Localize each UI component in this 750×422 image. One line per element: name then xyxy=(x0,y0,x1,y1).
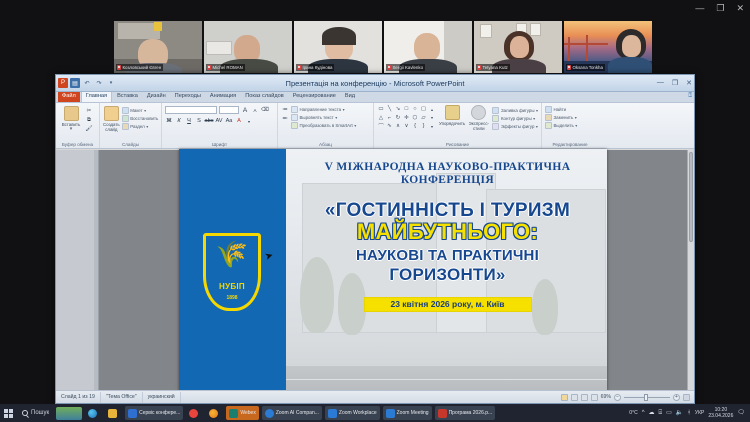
align-text-label: Выровнять текст xyxy=(300,115,334,120)
zoom-slider-knob[interactable] xyxy=(644,394,648,401)
shape-item[interactable]: ↻ xyxy=(394,114,402,122)
participant-name: Tetyana Kutz xyxy=(483,64,508,71)
volume-icon[interactable]: 🔈 xyxy=(676,410,683,416)
slide-text-block: V МІЖНАРОДНА НАУКОВО-ПРАКТИЧНА КОНФЕРЕНЦ… xyxy=(294,161,601,312)
layout-label: Макет xyxy=(130,108,142,113)
chevron-down-icon[interactable]: ▾ xyxy=(536,108,538,113)
powerpoint-status-bar: Слайд 1 из 19 "Тема Office" украинский 6… xyxy=(56,390,694,403)
section-icon xyxy=(122,123,129,130)
participant-name-badge: Козловський Євген xyxy=(116,64,163,71)
ribbon-group-paragraph: ≔ ≕ Направление текста ▾ Выровнять текст xyxy=(278,103,374,148)
copy-icon[interactable]: ⧉ xyxy=(85,116,93,124)
drawing-group-label: Рисование xyxy=(374,142,541,148)
sorter-view-icon[interactable] xyxy=(571,394,578,401)
reset-icon xyxy=(122,115,129,122)
layout-icon xyxy=(122,107,129,114)
shape-effects-label: Эффекты фигур xyxy=(501,124,534,129)
clock[interactable]: 10:20 23.04.2026 xyxy=(708,407,733,419)
taskbar-app-zoom-meeting[interactable]: Zoom Meeting xyxy=(383,406,432,420)
zoom-window-controls: — ❐ ✕ xyxy=(695,4,744,13)
arrange-icon xyxy=(445,105,460,120)
tab-view[interactable]: Вид xyxy=(341,91,359,102)
zoom-meeting-window: — ❐ ✕ Козловський Євген xyxy=(0,0,750,422)
ppt-restore-button[interactable]: ❐ xyxy=(672,79,678,87)
find-button[interactable]: Найти xyxy=(545,106,595,113)
slide-canvas[interactable]: 🌾 НУБІП 1898 V МІЖНАРОДНА НАУКОВО-ПРАКТИ… xyxy=(179,149,607,392)
numbering-icon[interactable]: ≕ xyxy=(281,115,289,123)
fit-to-window-icon[interactable] xyxy=(683,394,690,401)
format-painter-icon[interactable]: 🖌 xyxy=(85,125,93,133)
powerpoint-window-controls: — ❐ ✕ xyxy=(657,79,692,87)
firefox-icon xyxy=(209,409,218,418)
taskbar-app-program-pdf[interactable]: Програма 2026.p... xyxy=(435,406,496,420)
ppt-minimize-button[interactable]: — xyxy=(657,79,664,87)
system-tray: 0°C ^ ☁ ⌸ ▭ 🔈 ᚼ УКР 10:20 23.04.2026 🗨 xyxy=(629,407,748,419)
taskbar-app-webex[interactable]: Webex xyxy=(226,406,258,420)
character-spacing-button[interactable]: AV xyxy=(215,117,223,125)
layout-button[interactable]: Макет ▾ xyxy=(122,107,159,114)
find-icon xyxy=(545,106,552,113)
font-group-label: Шрифт xyxy=(162,142,277,148)
network-icon[interactable]: ▭ xyxy=(666,410,672,416)
shape-item[interactable]: ∧ xyxy=(394,122,402,130)
participant-name-badge: Ірина Кудінова xyxy=(296,64,334,71)
align-text-icon xyxy=(291,114,298,121)
slide-title-line-1: «ГОСТИННІСТЬ І ТУРИЗМ xyxy=(294,200,601,221)
logo-acronym: НУБІП xyxy=(203,282,261,291)
shape-item[interactable]: ▢ xyxy=(420,105,428,113)
quick-styles-icon xyxy=(471,105,486,120)
participant-filmstrip: Козловський Євген Michel ROMAN Ірина Куд… xyxy=(114,21,652,73)
underline-button[interactable]: Ч xyxy=(185,117,193,125)
shrink-font-icon[interactable]: A xyxy=(251,106,259,114)
theme-name[interactable]: "Тема Office" xyxy=(101,392,143,403)
change-case-button[interactable]: Aa xyxy=(225,117,233,125)
chevron-down-icon[interactable]: ▾ xyxy=(144,108,146,113)
file-explorer-icon xyxy=(108,409,117,418)
taskbar-app-zoom-ai[interactable]: Zoom AI Compan... xyxy=(262,406,322,420)
italic-button[interactable]: К xyxy=(175,117,183,125)
slide-date-badge: 23 квітня 2026 року, м. Київ xyxy=(364,297,532,312)
arrange-label: Упорядочить xyxy=(439,121,465,126)
windows-taskbar: Пошук Сервіс конфере... Webex Zoom AI Co… xyxy=(0,404,750,422)
chevron-down-icon[interactable]: ▾ xyxy=(146,124,148,129)
section-button[interactable]: Раздел ▾ xyxy=(122,123,159,130)
shapes-scroll-down-icon[interactable]: ▾ xyxy=(428,114,436,122)
grow-font-icon[interactable]: A xyxy=(241,106,249,114)
font-color-button[interactable]: A xyxy=(235,117,243,125)
shape-effects-button[interactable]: Эффекты фигур ▾ xyxy=(492,123,538,130)
tab-file[interactable]: Файл xyxy=(58,91,80,102)
shape-outline-icon xyxy=(492,115,499,122)
zoom-minimize-button[interactable]: — xyxy=(695,4,704,13)
replace-button[interactable]: Заменить ▾ xyxy=(545,114,595,121)
opera-icon xyxy=(189,409,198,418)
ribbon-group-clipboard: Вставить ▾ ✂ ⧉ 🖌 Буфер обмена xyxy=(56,103,100,148)
ribbon: Вставить ▾ ✂ ⧉ 🖌 Буфер обмена Созд xyxy=(56,103,694,149)
ribbon-tab-strip: Файл Главная Вставка Дизайн Переходы Ани… xyxy=(56,92,694,103)
zoom-workplace-icon xyxy=(328,409,337,418)
shape-item[interactable]: ∨ xyxy=(403,122,411,130)
shapes-scroll-up-icon[interactable]: ▴ xyxy=(428,105,436,113)
slides-group-label: Слайды xyxy=(100,142,161,148)
language-indicator[interactable]: УКР xyxy=(695,410,704,416)
windows-start-icon[interactable] xyxy=(2,407,15,420)
notifications-icon[interactable]: 🗨 xyxy=(737,410,745,416)
powerpoint-workspace: 🌾 НУБІП 1898 V МІЖНАРОДНА НАУКОВО-ПРАКТИ… xyxy=(56,150,694,390)
zoom-close-button[interactable]: ✕ xyxy=(736,4,744,13)
clock-date: 23.04.2026 xyxy=(708,413,733,419)
taskbar-app-label: Webex xyxy=(240,410,255,416)
status-right-controls: 69% − + xyxy=(561,394,694,401)
participant-face xyxy=(622,35,641,57)
new-slide-icon xyxy=(104,106,119,121)
shape-fill-label: Заливка фигуры xyxy=(501,108,535,113)
participant-name-badge: Tetyana Kutz xyxy=(476,64,510,71)
microphone-icon xyxy=(117,65,121,70)
new-slide-button[interactable]: Создать слайд xyxy=(103,106,120,132)
find-label: Найти xyxy=(554,107,567,112)
tab-insert[interactable]: Вставка xyxy=(113,91,142,102)
participant-tile[interactable]: Sergii Kavlenko xyxy=(384,21,472,73)
logo-year: 1898 xyxy=(203,295,261,301)
ribbon-group-slides: Создать слайд Макет ▾ Восстановить xyxy=(100,103,162,148)
temperature-indicator[interactable]: 0°C xyxy=(629,410,637,416)
microphone-icon xyxy=(477,65,481,70)
ribbon-group-editing: Найти Заменить ▾ Выделить ▾ Редактирован… xyxy=(542,103,598,148)
bold-button[interactable]: Ж xyxy=(165,117,173,125)
shape-item[interactable]: ╲ xyxy=(386,105,394,113)
slide-title-line-2: МАЙБУТНЬОГО: xyxy=(294,221,601,243)
shapes-more-icon[interactable]: ▾ xyxy=(428,122,436,130)
paste-icon xyxy=(64,106,79,121)
shapes-gallery[interactable]: ▭ ╲ ↘ □ ○ ▢ ▴ △ ⌐ ↻ ✛ ⬡ ▱ ▾ ⌒ xyxy=(377,105,436,130)
taskbar-app-explorer[interactable] xyxy=(105,406,122,420)
paste-dropdown-arrow[interactable]: ▾ xyxy=(70,127,73,131)
font-name-input[interactable] xyxy=(165,106,217,114)
zoom-out-button[interactable]: − xyxy=(614,394,621,401)
participant-hair xyxy=(322,27,356,45)
smartart-icon xyxy=(291,122,298,129)
slide-thumbnail-pane[interactable] xyxy=(56,150,99,390)
zoom-ai-icon xyxy=(265,409,274,418)
shape-item[interactable]: ↘ xyxy=(394,105,402,113)
quick-styles-button[interactable]: Экспресс-стили xyxy=(468,105,489,131)
paste-button[interactable]: Вставить ▾ xyxy=(59,106,83,131)
zoom-slider[interactable] xyxy=(624,394,670,401)
conference-heading: V МІЖНАРОДНА НАУКОВО-ПРАКТИЧНА КОНФЕРЕНЦ… xyxy=(294,161,601,187)
road-marking xyxy=(286,379,607,380)
participant-tile[interactable]: Козловський Євген xyxy=(114,21,202,73)
shape-item[interactable]: ○ xyxy=(411,105,419,113)
search-placeholder: Пошук xyxy=(31,410,49,416)
arrange-button[interactable]: Упорядочить xyxy=(439,105,465,126)
cut-icon[interactable]: ✂ xyxy=(85,107,93,115)
microphone-icon xyxy=(567,65,571,70)
editing-group-label: Редактирование xyxy=(542,142,598,148)
taskbar-app-label: Zoom Workplace xyxy=(339,410,377,416)
shape-item[interactable]: } xyxy=(420,122,428,130)
strikethrough-button[interactable]: abc xyxy=(205,117,213,125)
chevron-down-icon[interactable]: ▾ xyxy=(335,115,337,120)
participant-name: Sergii Kavlenko xyxy=(393,64,424,71)
section-label: Раздел xyxy=(130,124,145,129)
zoom-meeting-icon xyxy=(386,409,395,418)
clipboard-group-label: Буфер обмена xyxy=(56,142,99,148)
zoom-level: 69% xyxy=(601,394,611,400)
replace-icon xyxy=(545,114,552,121)
slide-counter: Слайд 1 из 19 xyxy=(56,392,101,403)
smartart-label: Преобразовать в SmartArt xyxy=(300,123,353,128)
chevron-down-icon[interactable]: ▾ xyxy=(343,107,345,112)
normal-view-icon[interactable] xyxy=(561,394,568,401)
taskbar-app-edge[interactable] xyxy=(85,406,102,420)
usb-icon[interactable]: ⌸ xyxy=(659,410,663,416)
replace-label: Заменить xyxy=(554,115,574,120)
taskbar-app-firefox[interactable] xyxy=(206,406,223,420)
tab-animations[interactable]: Анимация xyxy=(206,91,240,102)
reading-view-icon[interactable] xyxy=(581,394,588,401)
shape-item[interactable]: ⌐ xyxy=(386,114,394,122)
pdf-icon xyxy=(438,409,447,418)
chevron-down-icon[interactable]: ▾ xyxy=(533,116,535,121)
shape-item[interactable]: ⬡ xyxy=(411,114,419,122)
wheat-icon: 🌾 xyxy=(216,241,248,267)
chevron-down-icon[interactable]: ▾ xyxy=(575,123,577,128)
participant-tile[interactable]: Ірина Кудінова xyxy=(294,21,382,73)
shape-item[interactable]: ✛ xyxy=(403,114,411,122)
shape-item[interactable]: { xyxy=(411,122,419,130)
shape-item[interactable]: △ xyxy=(377,114,385,122)
text-direction-icon xyxy=(291,106,298,113)
nubip-logo: 🌾 НУБІП 1898 xyxy=(203,233,261,311)
help-icon[interactable]: ⍰ xyxy=(688,93,692,99)
select-label: Выделить xyxy=(554,123,574,128)
chevron-down-icon[interactable]: ▾ xyxy=(575,115,577,120)
taskbar-app-conference-service[interactable]: Сервіс конфере... xyxy=(125,406,183,420)
powerpoint-window: P ▤ ↶ ↷ ▾ Презентація на конференцію - M… xyxy=(55,74,695,404)
taskbar-app-label: Програма 2026.p... xyxy=(449,410,493,416)
tab-slideshow[interactable]: Показ слайдов xyxy=(241,91,288,102)
participant-name: Michel ROMAN xyxy=(213,64,243,71)
taskbar-search[interactable]: Пошук xyxy=(18,410,53,416)
ribbon-group-font: A A ⌫ Ж К Ч S abc AV Aa A ▾ Шрифт xyxy=(162,103,278,148)
shape-item[interactable]: □ xyxy=(403,105,411,113)
font-size-input[interactable] xyxy=(219,106,239,114)
clear-formatting-icon[interactable]: ⌫ xyxy=(261,106,269,114)
powerpoint-titlebar[interactable]: P ▤ ↶ ↷ ▾ Презентація на конференцію - M… xyxy=(56,75,694,92)
tab-transitions[interactable]: Переходы xyxy=(171,91,205,102)
shape-item[interactable]: ∿ xyxy=(386,122,394,130)
reset-label: Восстановить xyxy=(130,116,158,121)
zoom-in-button[interactable]: + xyxy=(673,394,680,401)
slide-title-line-3: НАУКОВІ ТА ПРАКТИЧНІ xyxy=(294,247,601,265)
participant-name: Oksana Tonkha xyxy=(573,64,603,71)
microphone-icon xyxy=(387,65,391,70)
conference-service-icon xyxy=(128,409,137,418)
search-icon xyxy=(22,410,28,416)
bullets-icon[interactable]: ≔ xyxy=(281,106,289,114)
participant-name-badge: Sergii Kavlenko xyxy=(386,64,425,71)
participant-body xyxy=(608,57,652,73)
participant-face xyxy=(414,33,440,61)
shape-item[interactable]: ⌒ xyxy=(377,122,385,130)
select-icon xyxy=(545,122,552,129)
edge-icon xyxy=(88,409,97,418)
ppt-close-button[interactable]: ✕ xyxy=(686,79,692,87)
tab-design[interactable]: Дизайн xyxy=(143,91,170,102)
microphone-icon xyxy=(207,65,211,70)
shape-fill-icon xyxy=(492,107,499,114)
participant-tile[interactable]: Oksana Tonkha xyxy=(564,21,652,73)
slide-editing-stage[interactable]: 🌾 НУБІП 1898 V МІЖНАРОДНА НАУКОВО-ПРАКТИ… xyxy=(99,150,687,390)
taskbar-app-label: Сервіс конфере... xyxy=(139,410,180,416)
powerpoint-title: Презентація на конференцію - Microsoft P… xyxy=(56,79,694,88)
chevron-down-icon[interactable]: ▾ xyxy=(536,124,538,129)
weather-icon[interactable] xyxy=(56,407,82,420)
shape-fill-button[interactable]: Заливка фигуры ▾ xyxy=(492,107,538,114)
shape-outline-label: Контур фигуры xyxy=(501,116,532,121)
participant-tile-active-speaker[interactable]: Tetyana Kutz xyxy=(474,21,562,73)
shape-outline-button[interactable]: Контур фигуры ▾ xyxy=(492,115,538,122)
select-button[interactable]: Выделить ▾ xyxy=(545,122,595,129)
shadow-button[interactable]: S xyxy=(195,117,203,125)
slide-title-line-4: ГОРИЗОНТИ» xyxy=(294,265,601,284)
chevron-down-icon[interactable]: ▾ xyxy=(245,117,253,125)
zoom-maximize-button[interactable]: ❐ xyxy=(716,4,724,13)
shape-item[interactable]: ▱ xyxy=(420,114,428,122)
participant-name: Козловський Євген xyxy=(123,64,162,71)
shape-effects-icon xyxy=(492,123,499,130)
slideshow-icon[interactable] xyxy=(591,394,598,401)
reset-button[interactable]: Восстановить xyxy=(122,115,159,122)
webex-icon xyxy=(229,409,238,418)
quick-styles-label: Экспресс-стили xyxy=(468,121,489,131)
participant-name-badge: Michel ROMAN xyxy=(206,64,245,71)
participant-face xyxy=(510,36,529,58)
paragraph-group-label: Абзац xyxy=(278,142,373,148)
new-slide-label: Создать слайд xyxy=(103,122,120,132)
language-indicator[interactable]: украинский xyxy=(143,392,181,403)
participant-name-badge: Oksana Tonkha xyxy=(566,64,605,71)
bluetooth-icon[interactable]: ᚼ xyxy=(687,410,691,416)
participant-tile[interactable]: Michel ROMAN xyxy=(204,21,292,73)
text-direction-button[interactable]: Направление текста ▾ xyxy=(291,106,356,113)
shape-item[interactable]: ▭ xyxy=(377,105,385,113)
vertical-scrollbar[interactable] xyxy=(687,150,694,390)
text-direction-label: Направление текста xyxy=(300,107,342,112)
tray-expand-chevron-icon[interactable]: ^ xyxy=(642,410,645,416)
taskbar-app-opera[interactable] xyxy=(186,406,203,420)
scrollbar-thumb[interactable] xyxy=(689,152,693,242)
chevron-down-icon[interactable]: ▾ xyxy=(354,123,356,128)
taskbar-app-label: Zoom AI Compan... xyxy=(276,410,319,416)
taskbar-app-zoom-workplace[interactable]: Zoom Workplace xyxy=(325,406,380,420)
tab-review[interactable]: Рецензирование xyxy=(289,91,340,102)
taskbar-app-label: Zoom Meeting xyxy=(397,410,429,416)
align-text-button[interactable]: Выровнять текст ▾ xyxy=(291,114,356,121)
participant-name: Ірина Кудінова xyxy=(303,64,333,71)
onedrive-icon[interactable]: ☁ xyxy=(649,410,655,416)
convert-smartart-button[interactable]: Преобразовать в SmartArt ▾ xyxy=(291,122,356,129)
ribbon-group-drawing: ▭ ╲ ↘ □ ○ ▢ ▴ △ ⌐ ↻ ✛ ⬡ ▱ ▾ ⌒ xyxy=(374,103,542,148)
microphone-icon xyxy=(297,65,301,70)
